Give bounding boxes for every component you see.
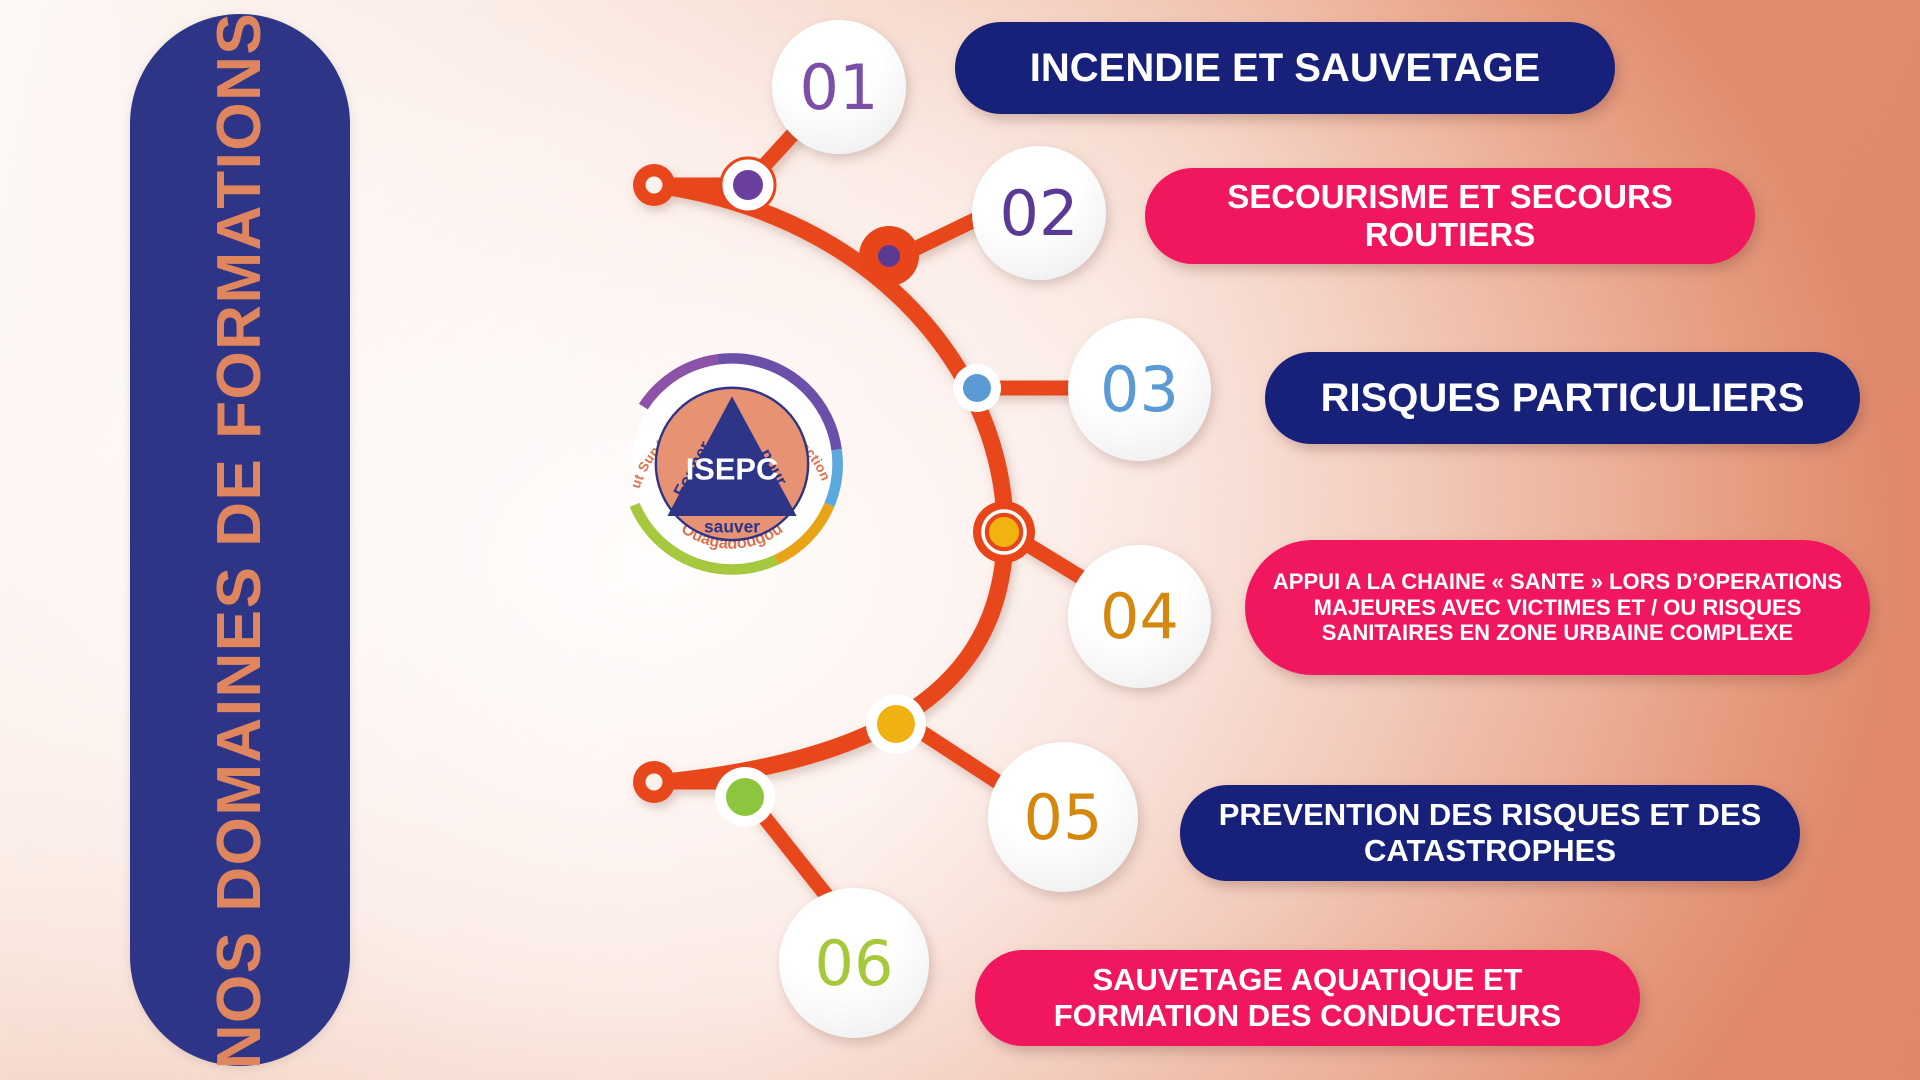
label-pill-06[interactable]: SAUVETAGE AQUATIQUE ET FORMATION DES CON…	[975, 950, 1640, 1046]
node-marker-06-dot	[726, 778, 764, 816]
connector-line-05	[915, 728, 1010, 790]
isepc-logo: Institut Supérieur d’Etudes de Protectio…	[597, 322, 867, 602]
label-text-06: SAUVETAGE AQUATIQUE ET FORMATION DES CON…	[1001, 962, 1614, 1034]
number-label-06: 06	[815, 927, 894, 1000]
logo-label-sauver: sauver	[704, 516, 760, 536]
label-text-04: APPUI A LA CHAINE « SANTE » LORS D’OPERA…	[1271, 569, 1844, 646]
arc-endpoint-bottom-hole	[646, 774, 663, 791]
label-pill-05[interactable]: PREVENTION DES RISQUES ET DES CATASTROPH…	[1180, 785, 1800, 881]
logo-center-text: ISEPC	[686, 451, 779, 486]
node-marker-01-dot	[733, 170, 763, 200]
node-marker-04-dot	[989, 517, 1019, 547]
label-text-05: PREVENTION DES RISQUES ET DES CATASTROPH…	[1206, 797, 1774, 869]
node-marker-03-dot	[963, 374, 991, 402]
connector-line-06	[757, 808, 830, 900]
number-label-02: 02	[1000, 177, 1079, 250]
label-pill-02[interactable]: SECOURISME ET SECOURS ROUTIERS	[1145, 168, 1755, 264]
number-label-03: 03	[1100, 353, 1179, 426]
number-bubble-06[interactable]: 06	[779, 888, 929, 1038]
node-marker-05-dot	[877, 705, 915, 743]
number-bubble-02[interactable]: 02	[972, 146, 1106, 280]
label-pill-03[interactable]: RISQUES PARTICULIERS	[1265, 352, 1860, 444]
node-marker-02-dot	[878, 245, 900, 267]
label-text-02: SECOURISME ET SECOURS ROUTIERS	[1171, 178, 1729, 255]
number-label-01: 01	[800, 51, 879, 124]
label-pill-01[interactable]: INCENDIE ET SAUVETAGE	[955, 22, 1615, 114]
label-pill-04[interactable]: APPUI A LA CHAINE « SANTE » LORS D’OPERA…	[1245, 540, 1870, 675]
number-label-04: 04	[1100, 580, 1179, 653]
label-text-03: RISQUES PARTICULIERS	[1321, 375, 1805, 421]
label-text-01: INCENDIE ET SAUVETAGE	[1030, 45, 1540, 91]
number-label-05: 05	[1024, 781, 1103, 854]
number-bubble-05[interactable]: 05	[988, 742, 1138, 892]
number-bubble-03[interactable]: 03	[1068, 318, 1211, 461]
number-bubble-01[interactable]: 01	[772, 20, 906, 154]
arc-endpoint-top-hole	[646, 177, 663, 194]
number-bubble-04[interactable]: 04	[1068, 545, 1211, 688]
infographic-canvas: NOS DOMAINES DE FORMATIONS	[0, 0, 1920, 1080]
